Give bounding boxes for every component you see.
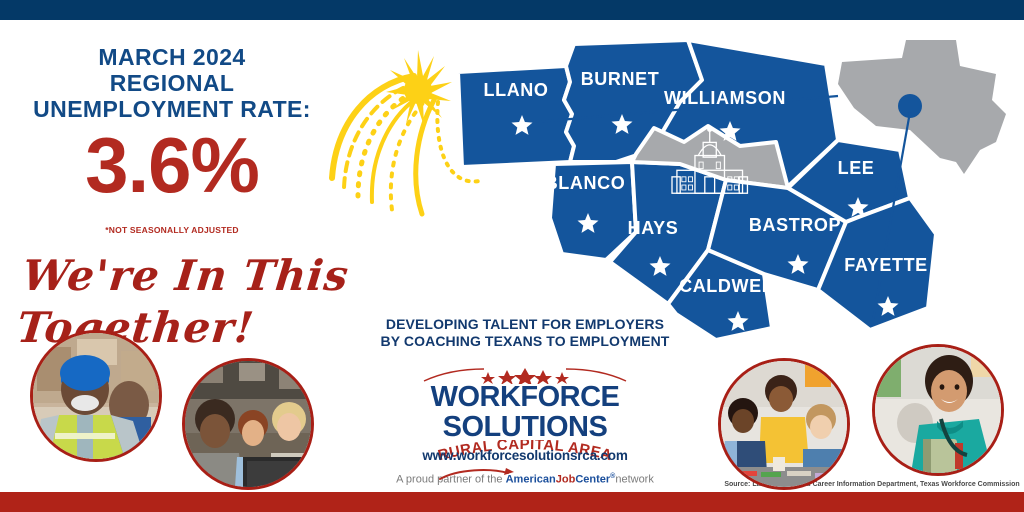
headline-line-1: MARCH 2024 [22, 44, 322, 70]
unemployment-rate-value: 3.6% [22, 126, 322, 204]
ajc-network: network [615, 474, 654, 486]
regional-county-map: LLANOBURNETWILLIAMSONBLANCOHAYSCALDWELLB… [440, 22, 1024, 342]
county-label-hays: HAYS [628, 218, 679, 238]
headline-line-3: UNEMPLOYMENT RATE: [22, 96, 322, 122]
county-label-llano: LLANO [484, 80, 549, 100]
county-label-burnet: BURNET [581, 69, 660, 89]
tagline-line-1: DEVELOPING TALENT FOR EMPLOYERS [330, 316, 720, 333]
photo-warehouse-worker [30, 330, 162, 462]
photo-healthcare-worker [872, 344, 1004, 476]
bottom-red-bar [0, 492, 1024, 512]
county-label-fayette: FAYETTE [844, 255, 928, 275]
county-label-caldwell: CALDWELL [679, 276, 785, 296]
county-label-lee: LEE [838, 158, 875, 178]
ajc-center: Center [575, 474, 610, 486]
headline-line-2: REGIONAL [22, 70, 322, 96]
tagline-line-2: BY COACHING TEXANS TO EMPLOYMENT [330, 333, 720, 350]
logo-line-solutions: SOLUTIONS [380, 412, 670, 442]
photo-office-team [182, 358, 314, 490]
ajc-job: Job [556, 474, 576, 486]
logo-line-workforce: WORKFORCE [380, 382, 670, 412]
american-job-center-partner-line: A proud partner of the AmericanJobCenter… [330, 473, 720, 486]
infographic-canvas: MARCH 2024 REGIONAL UNEMPLOYMENT RATE: 3… [0, 0, 1024, 512]
ajc-swoosh-icon [438, 468, 516, 480]
seasonal-adjustment-note: *NOT SEASONALLY ADJUSTED [22, 225, 322, 235]
county-label-blanco: BLANCO [545, 173, 626, 193]
logo-stars-arc [380, 368, 670, 382]
website-url[interactable]: www.workforcesolutionsrca.com [330, 448, 720, 463]
photo-classroom [718, 358, 850, 490]
county-label-williamson: WILLIAMSON [664, 88, 786, 108]
mission-tagline: DEVELOPING TALENT FOR EMPLOYERS BY COACH… [330, 316, 720, 350]
county-label-bastrop: BASTROP [749, 215, 841, 235]
top-navy-bar [0, 0, 1024, 20]
page-title: MARCH 2024 REGIONAL UNEMPLOYMENT RATE: [22, 44, 322, 122]
